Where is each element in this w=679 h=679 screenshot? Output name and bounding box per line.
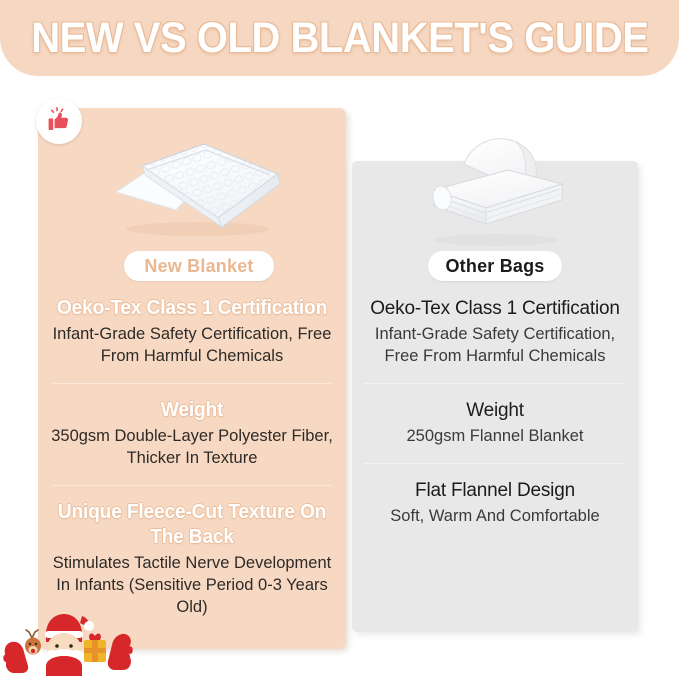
santa-claus-icon xyxy=(2,604,134,678)
product-image-new-blanket xyxy=(100,126,292,238)
section-divider xyxy=(364,383,626,384)
header-banner: NEW VS OLD BLANKET'S GUIDE xyxy=(0,0,679,76)
page-title: NEW VS OLD BLANKET'S GUIDE xyxy=(31,16,648,60)
feature-block: Oeko-Tex Class 1 Certification Infant-Gr… xyxy=(46,296,338,367)
feature-list-other-bags: Oeko-Tex Class 1 Certification Infant-Gr… xyxy=(358,296,632,527)
feature-body: 250gsm Flannel Blanket xyxy=(358,425,632,447)
feature-heading: Weight xyxy=(358,398,632,423)
feature-heading: Oeko-Tex Class 1 Certification xyxy=(52,296,332,321)
pill-label-other-bags: Other Bags xyxy=(445,256,544,277)
label-pill-other-bags: Other Bags xyxy=(428,251,562,281)
product-image-other-blanket xyxy=(412,130,580,248)
section-divider xyxy=(52,383,332,384)
section-divider xyxy=(364,463,626,464)
feature-body: Infant-Grade Safety Certification, Free … xyxy=(46,323,338,367)
feature-block: Oeko-Tex Class 1 Certification Infant-Gr… xyxy=(358,296,632,367)
thumbs-up-icon xyxy=(44,106,74,136)
feature-heading: Unique Fleece-Cut Texture On The Back xyxy=(52,500,332,550)
feature-heading: Oeko-Tex Class 1 Certification xyxy=(358,296,632,321)
feature-block: Weight 250gsm Flannel Blanket xyxy=(358,398,632,447)
label-pill-new-blanket: New Blanket xyxy=(124,251,274,281)
feature-list-new-blanket: Oeko-Tex Class 1 Certification Infant-Gr… xyxy=(46,296,338,618)
pill-label-new-blanket: New Blanket xyxy=(144,256,253,277)
feature-body: Infant-Grade Safety Certification, Free … xyxy=(358,323,632,367)
feature-block: Weight 350gsm Double-Layer Polyester Fib… xyxy=(46,398,338,469)
feature-block: Flat Flannel Design Soft, Warm And Comfo… xyxy=(358,478,632,527)
section-divider xyxy=(52,485,332,486)
feature-heading: Flat Flannel Design xyxy=(358,478,632,503)
thumbs-up-badge xyxy=(36,98,82,144)
feature-heading: Weight xyxy=(52,398,332,423)
feature-block: Unique Fleece-Cut Texture On The Back St… xyxy=(46,500,338,618)
feature-body: Soft, Warm And Comfortable xyxy=(358,505,632,527)
feature-body: 350gsm Double-Layer Polyester Fiber, Thi… xyxy=(46,425,338,469)
